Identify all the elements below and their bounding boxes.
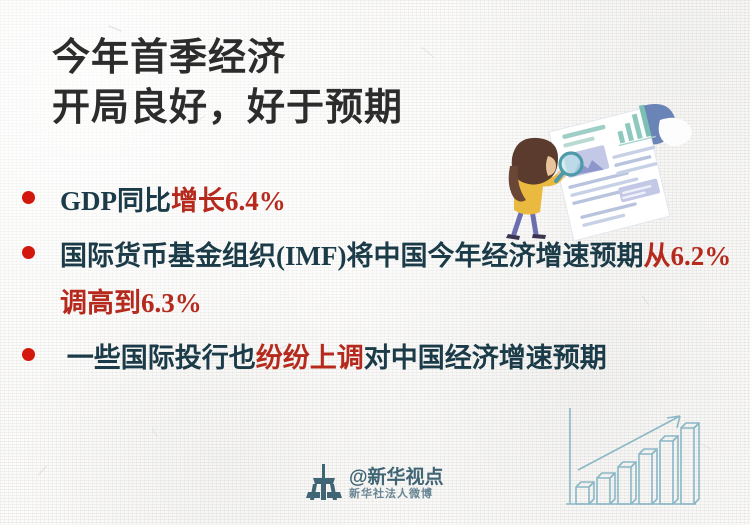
bullet-dot-icon [22,246,35,259]
bullet-3-segment-highlight: 纷纷上调 [256,343,364,373]
scroll-curl-underside [659,118,692,146]
bullet-1-segment-normal: GDP同比 [60,186,171,216]
bullet-2-segment-normal: 国际货币基金组织(IMF)将中国今年经济增速预期 [60,241,643,271]
paper-speck [422,47,435,58]
chart-bar-2 [597,473,615,504]
bullet-text-3: 一些国际投行也纷纷上调对中国经济增速预期 [60,335,736,382]
title-line-2: 开局良好，好于预期 [52,83,403,133]
bullet-item-2: 国际货币基金组织(IMF)将中国今年经济增速预期从6.2%调高到6.3% [14,233,736,327]
poster-title: 今年首季经济 开局良好，好于预期 [52,33,403,133]
bullet-item-1: GDP同比增长6.4% [14,178,736,225]
chart-bar-3 [618,462,636,504]
bullet-list: GDP同比增长6.4% 国际货币基金组织(IMF)将中国今年经济增速预期从6.2… [14,178,736,390]
bullet-dot-icon [22,348,35,361]
bullet-item-3: 一些国际投行也纷纷上调对中国经济增速预期 [14,335,736,382]
paper-speck [152,428,157,436]
bullet-text-2: 国际货币基金组织(IMF)将中国今年经济增速预期从6.2%调高到6.3% [60,233,736,327]
title-line-1: 今年首季经济 [52,33,403,83]
chart-bar-5 [660,436,678,504]
bullet-3-segment-normal-b: 对中国经济增速预期 [364,343,607,373]
paper-speck [38,465,47,475]
paper-speck [108,25,121,31]
chart-bar-1 [576,482,594,504]
watermark: @新华视点 新华社法人微博 [304,462,444,506]
growth-bar-chart-illustration [548,408,748,520]
xinhua-logo-mark-icon [304,462,344,506]
watermark-handle: @新华视点 [349,468,444,487]
bullet-1-segment-highlight: 增长6.4% [171,186,286,216]
chart-bar-6 [681,423,699,504]
poster-canvas: 今年首季经济 开局良好，好于预期 [0,0,750,525]
watermark-subtitle: 新华社法人微博 [349,489,444,500]
bullet-text-1: GDP同比增长6.4% [60,178,736,225]
watermark-text: @新华视点 新华社法人微博 [349,468,444,500]
chart-bar-4 [639,449,657,504]
bullet-3-segment-normal-a: 一些国际投行也 [67,343,256,373]
bullet-dot-icon [22,191,35,204]
